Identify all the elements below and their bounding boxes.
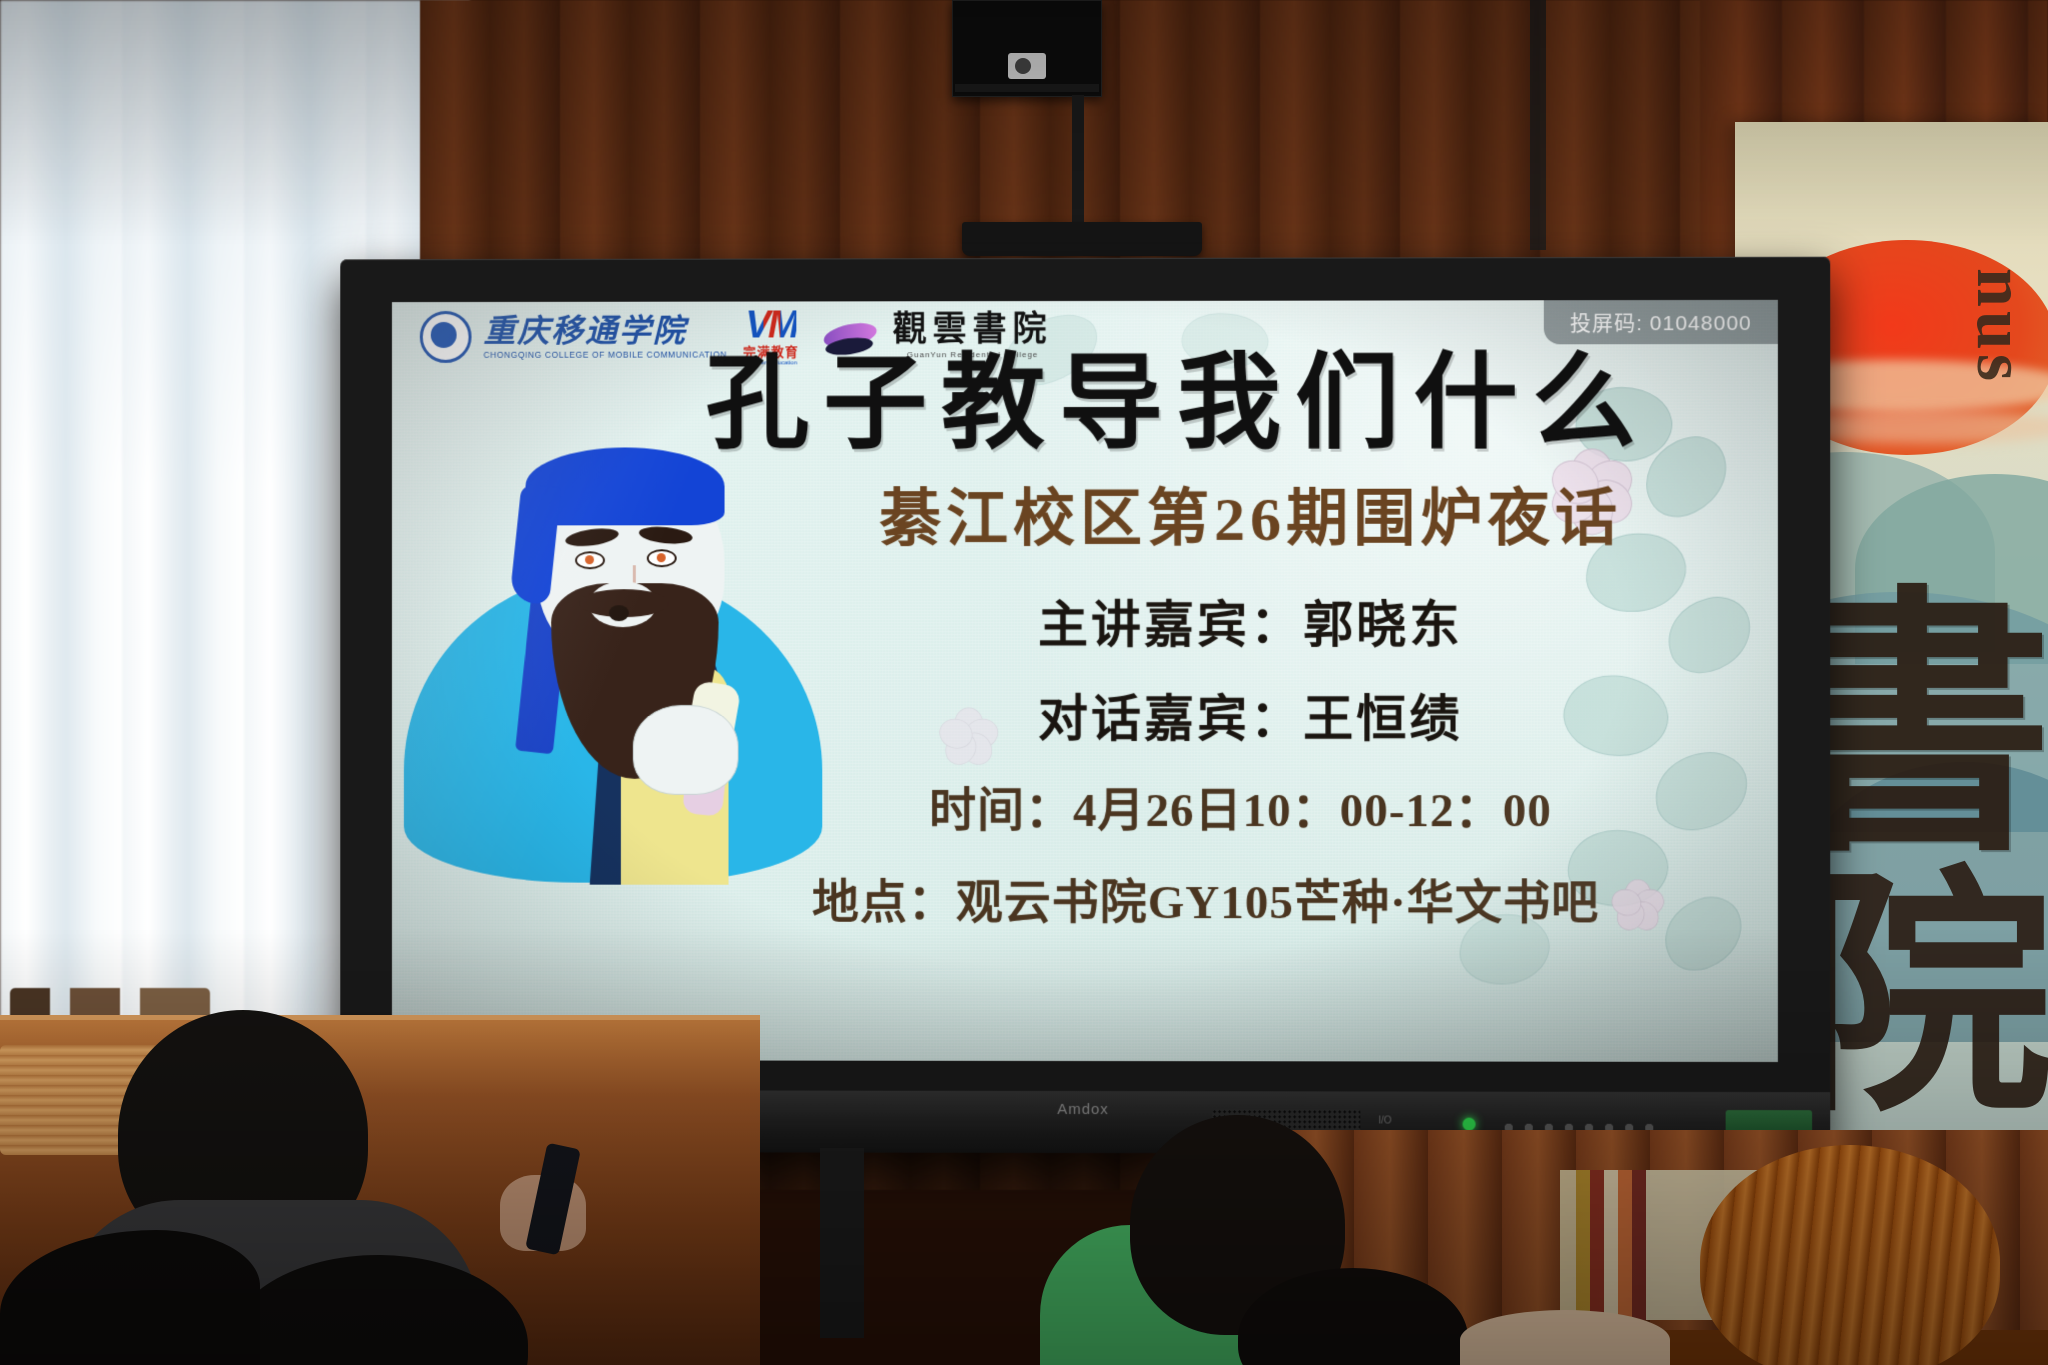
audience-member-5 [1700,1145,2000,1365]
power-led-icon [1463,1118,1476,1131]
speaker-driver-icon [1008,53,1046,79]
foreground-object [1460,1310,1670,1365]
display-stand-left [820,1148,864,1338]
presentation-slide: 重庆移通学院 CHONGQING COLLEGE OF MOBILE COMMU… [392,300,1778,1062]
slide-line-speaker: 主讲嘉宾：郭晓东 [750,585,1751,657]
slide-line-dialogue: 对话嘉宾：王恒绩 [750,679,1751,751]
camera-mount-pole [1072,95,1084,225]
university-name-cn: 重庆移通学院 [483,314,727,346]
projection-code-badge: 投屏码: 01048000 [1544,300,1778,344]
display-screen[interactable]: 重庆移通学院 CHONGQING COLLEGE OF MOBILE COMMU… [392,300,1778,1062]
banner-calligraphy-char-2: 院 [1793,882,2048,1116]
speaker-base [955,84,1099,92]
conference-camera [962,222,1202,256]
academy-name-cn: 觀雲書院 [893,313,1053,347]
slide-title: 孔子教导我们什么 [603,352,1754,457]
banner-vertical-text: nus [1960,268,2040,385]
university-wordmark: 重庆移通学院 CHONGQING COLLEGE OF MOBILE COMMU… [483,314,727,359]
vm-mark: VM [746,306,797,344]
slide-line-place: 地点：观云书院GY105芒种·华文书吧 [651,863,1762,933]
display-mount-pole [1530,0,1546,250]
display-brand-label: Amdox [1057,1101,1109,1118]
university-seal-icon [420,311,472,363]
wall-speaker [952,0,1102,97]
meeting-room-photo: nus 書 院 [0,0,2048,1365]
slide-subtitle: 綦江校区第26期围炉夜话 [750,488,1751,551]
io-label: I/O [1378,1115,1391,1126]
slide-line-time: 时间：4月26日10：00-12：00 [721,771,1762,840]
